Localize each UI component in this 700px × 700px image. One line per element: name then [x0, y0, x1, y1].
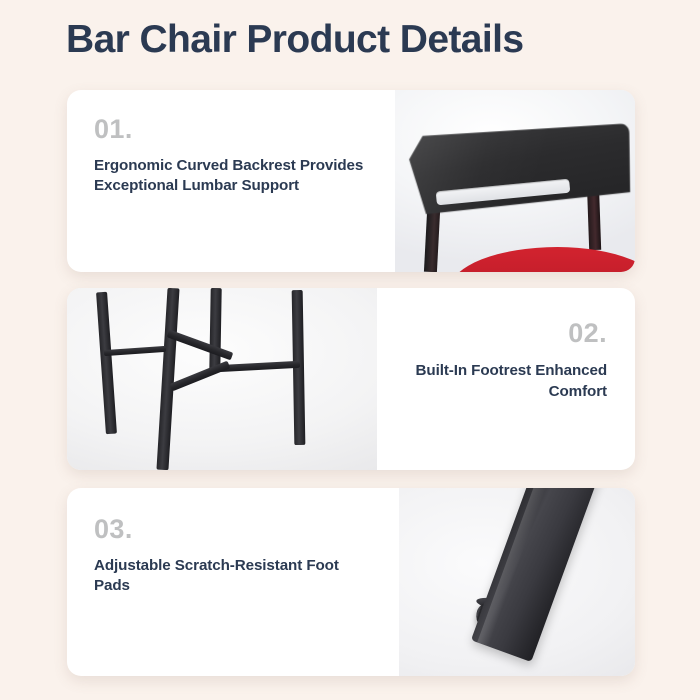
feature-card-03-text: 03. Adjustable Scratch-Resistant Foot Pa…: [67, 488, 399, 676]
feature-card-02-image: [67, 288, 377, 470]
feature-card-03-description: Adjustable Scratch-Resistant Foot Pads: [94, 556, 373, 595]
feature-card-03-image: [399, 488, 635, 676]
feature-card-02-text: 02. Built-In Footrest Enhanced Comfort: [377, 288, 635, 470]
feature-card-01-description: Ergonomic Curved Backrest Provides Excep…: [94, 156, 369, 195]
chair-leg-mid-right: [209, 288, 221, 372]
feature-card-02-description: Built-In Footrest Enhanced Comfort: [397, 360, 607, 402]
feature-card-01-number: 01.: [94, 114, 369, 144]
feature-card-02-number: 02.: [568, 318, 607, 348]
page-title: Bar Chair Product Details: [66, 16, 523, 64]
photo-background: [67, 288, 377, 470]
feature-card-03-number: 03.: [94, 514, 373, 544]
feature-card-03[interactable]: 03. Adjustable Scratch-Resistant Foot Pa…: [67, 488, 635, 676]
feature-card-01[interactable]: 01. Ergonomic Curved Backrest Provides E…: [67, 90, 635, 272]
feature-card-02[interactable]: 02. Built-In Footrest Enhanced Comfort: [67, 288, 635, 470]
feature-card-01-image: [395, 90, 635, 272]
product-details-page: Bar Chair Product Details 01. Ergonomic …: [0, 0, 700, 700]
feature-card-01-text: 01. Ergonomic Curved Backrest Provides E…: [67, 90, 395, 272]
